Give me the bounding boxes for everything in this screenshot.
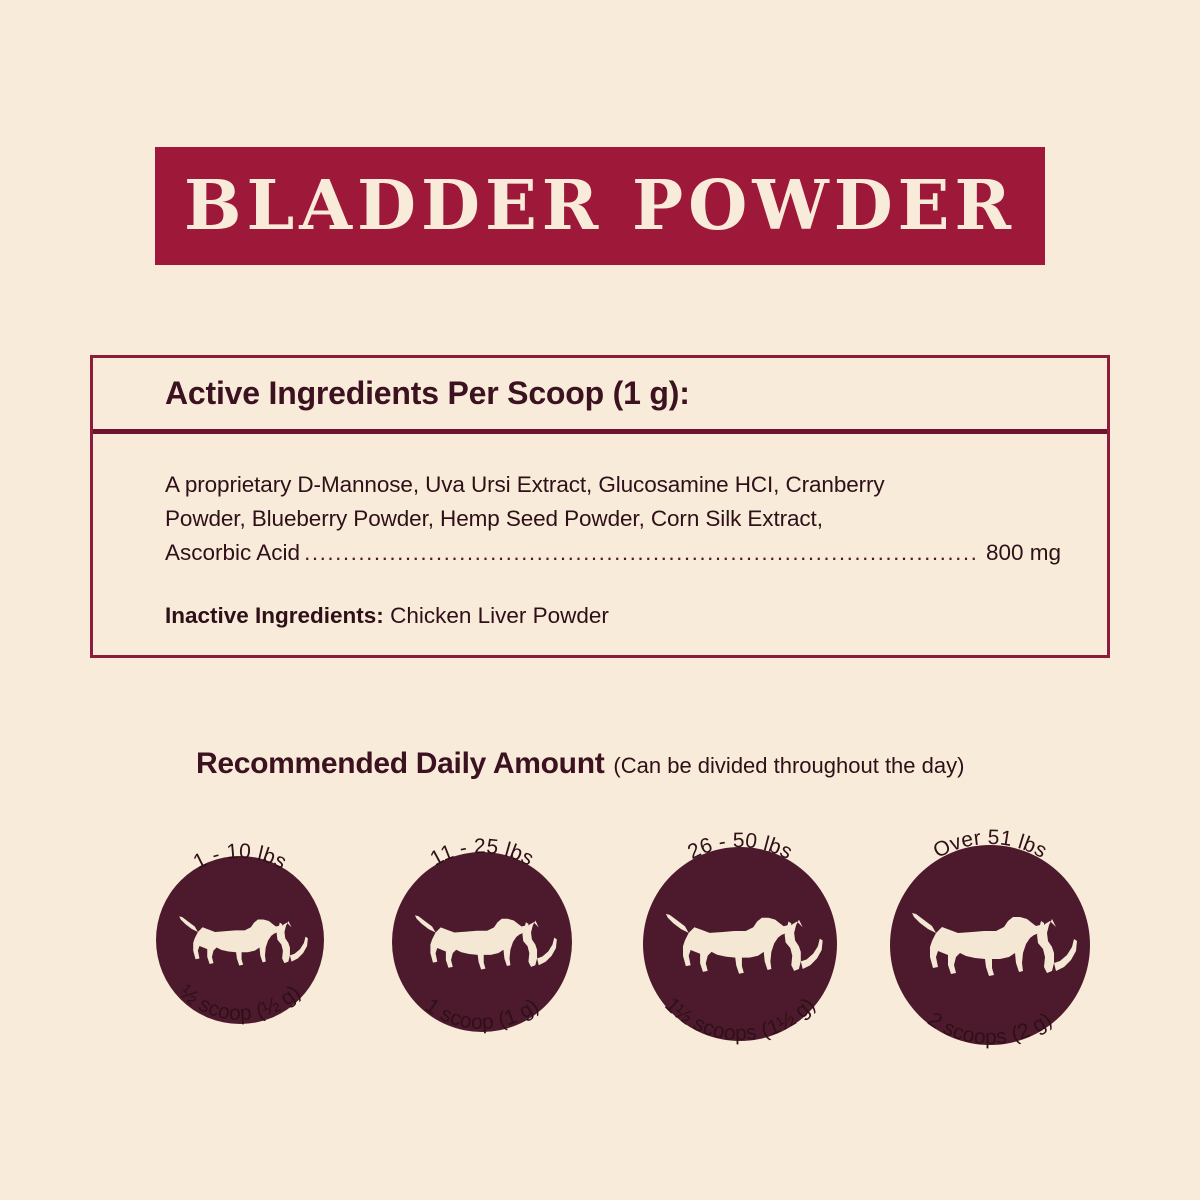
dosage-circles-row: 1 - 10 lbs ½ scoop (½ g) 11 - 25 lbs xyxy=(0,800,1200,1060)
active-ingredients-amount-row: Ascorbic Acid ..........................… xyxy=(165,536,1061,570)
dosage-item-1: 1 - 10 lbs ½ scoop (½ g) xyxy=(130,800,350,1060)
dosage-item-3: 26 - 50 lbs 1½ scoops (1½ g) xyxy=(620,800,860,1065)
inactive-ingredients-value: Chicken Liver Powder xyxy=(390,603,609,628)
inactive-ingredients-label: Inactive Ingredients: xyxy=(165,603,384,628)
dot-leader: ........................................… xyxy=(304,536,980,570)
active-ingredients-heading: Active Ingredients Per Scoop (1 g): xyxy=(165,375,690,412)
dosage-heading-note: (Can be divided throughout the day) xyxy=(613,753,964,779)
recommended-daily-amount-heading: Recommended Daily Amount (Can be divided… xyxy=(196,747,964,781)
active-ingredients-header: Active Ingredients Per Scoop (1 g): xyxy=(93,358,1107,434)
page-title: BLADDER POWDER xyxy=(184,172,1016,240)
active-ingredients-panel: Active Ingredients Per Scoop (1 g): A pr… xyxy=(90,355,1110,658)
active-ingredients-line-2: Powder, Blueberry Powder, Hemp Seed Powd… xyxy=(165,502,1061,536)
inactive-ingredients-line: Inactive Ingredients: Chicken Liver Powd… xyxy=(165,600,1061,632)
active-ingredients-body: A proprietary D-Mannose, Uva Ursi Extrac… xyxy=(93,434,1107,632)
dosage-item-2: 11 - 25 lbs 1 scoop (1 g) xyxy=(368,800,596,1060)
product-title-banner: BLADDER POWDER xyxy=(155,147,1045,265)
dosage-item-4: Over 51 lbs 2 scoops (2 g) xyxy=(868,800,1114,1065)
active-ingredients-line-1: A proprietary D-Mannose, Uva Ursi Extrac… xyxy=(165,468,1061,502)
active-ingredients-line-3-label: Ascorbic Acid xyxy=(165,536,300,570)
active-ingredients-amount: 800 mg xyxy=(986,536,1061,570)
dosage-heading-main: Recommended Daily Amount xyxy=(196,747,604,781)
